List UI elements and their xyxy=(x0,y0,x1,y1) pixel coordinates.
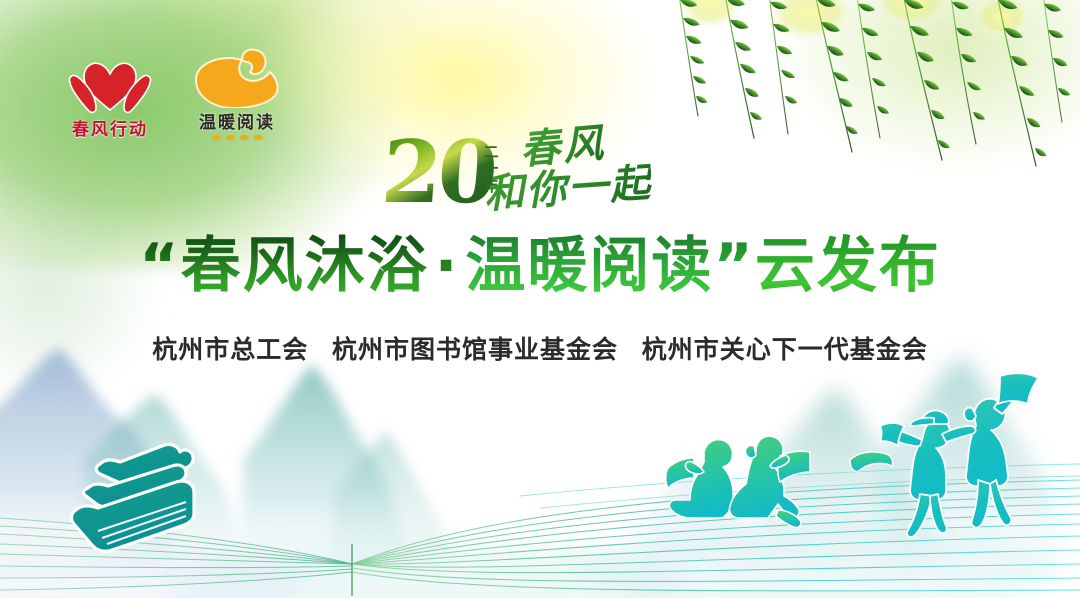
two-children-running-silhouette xyxy=(880,372,1070,542)
heart-in-hands-icon xyxy=(62,52,158,114)
logo-wennuan-yuedu: 温暖阅读 xyxy=(190,48,284,140)
logo-dot-row xyxy=(212,135,263,140)
poster-canvas: 春风行动 温暖阅读 20 二 十 年 春风 和你一起 xyxy=(0,0,1080,598)
title-open-quote: “ xyxy=(139,231,180,301)
title-part-1: 春风沐浴 xyxy=(181,231,429,301)
title-part-2: 温暖阅读 xyxy=(465,231,713,301)
logo-chunfeng-xingdong: 春风行动 xyxy=(62,52,158,140)
logo-label-chunfeng: 春风行动 xyxy=(72,115,148,140)
anniversary-emblem: 20 二 十 年 春风 和你一起 xyxy=(382,128,712,228)
organizers-line: 杭州市总工会 杭州市图书馆事业基金会 杭州市关心下一代基金会 xyxy=(0,333,1080,367)
emblem-year-char-1: 二 xyxy=(478,144,504,161)
logo-row: 春风行动 温暖阅读 xyxy=(62,48,284,140)
willow-branch-decoration xyxy=(650,0,1080,218)
organizer-1: 杭州市总工会 xyxy=(145,335,315,364)
two-children-reading-silhouette xyxy=(660,430,840,540)
organizer-2: 杭州市图书馆事业基金会 xyxy=(325,335,625,364)
emblem-script-line-2: 和你一起 xyxy=(483,162,654,216)
logo-label-wennuan: 温暖阅读 xyxy=(199,108,275,133)
title-close-quote: ” xyxy=(713,231,754,301)
page-title: “春风沐浴·温暖阅读”云发布 xyxy=(0,228,1080,304)
organizer-3: 杭州市关心下一代基金会 xyxy=(635,335,935,364)
title-separator: · xyxy=(429,231,466,301)
flame-book-icon xyxy=(190,48,284,108)
title-part-3: 云发布 xyxy=(755,231,941,301)
book-stack-silhouette xyxy=(52,430,252,560)
